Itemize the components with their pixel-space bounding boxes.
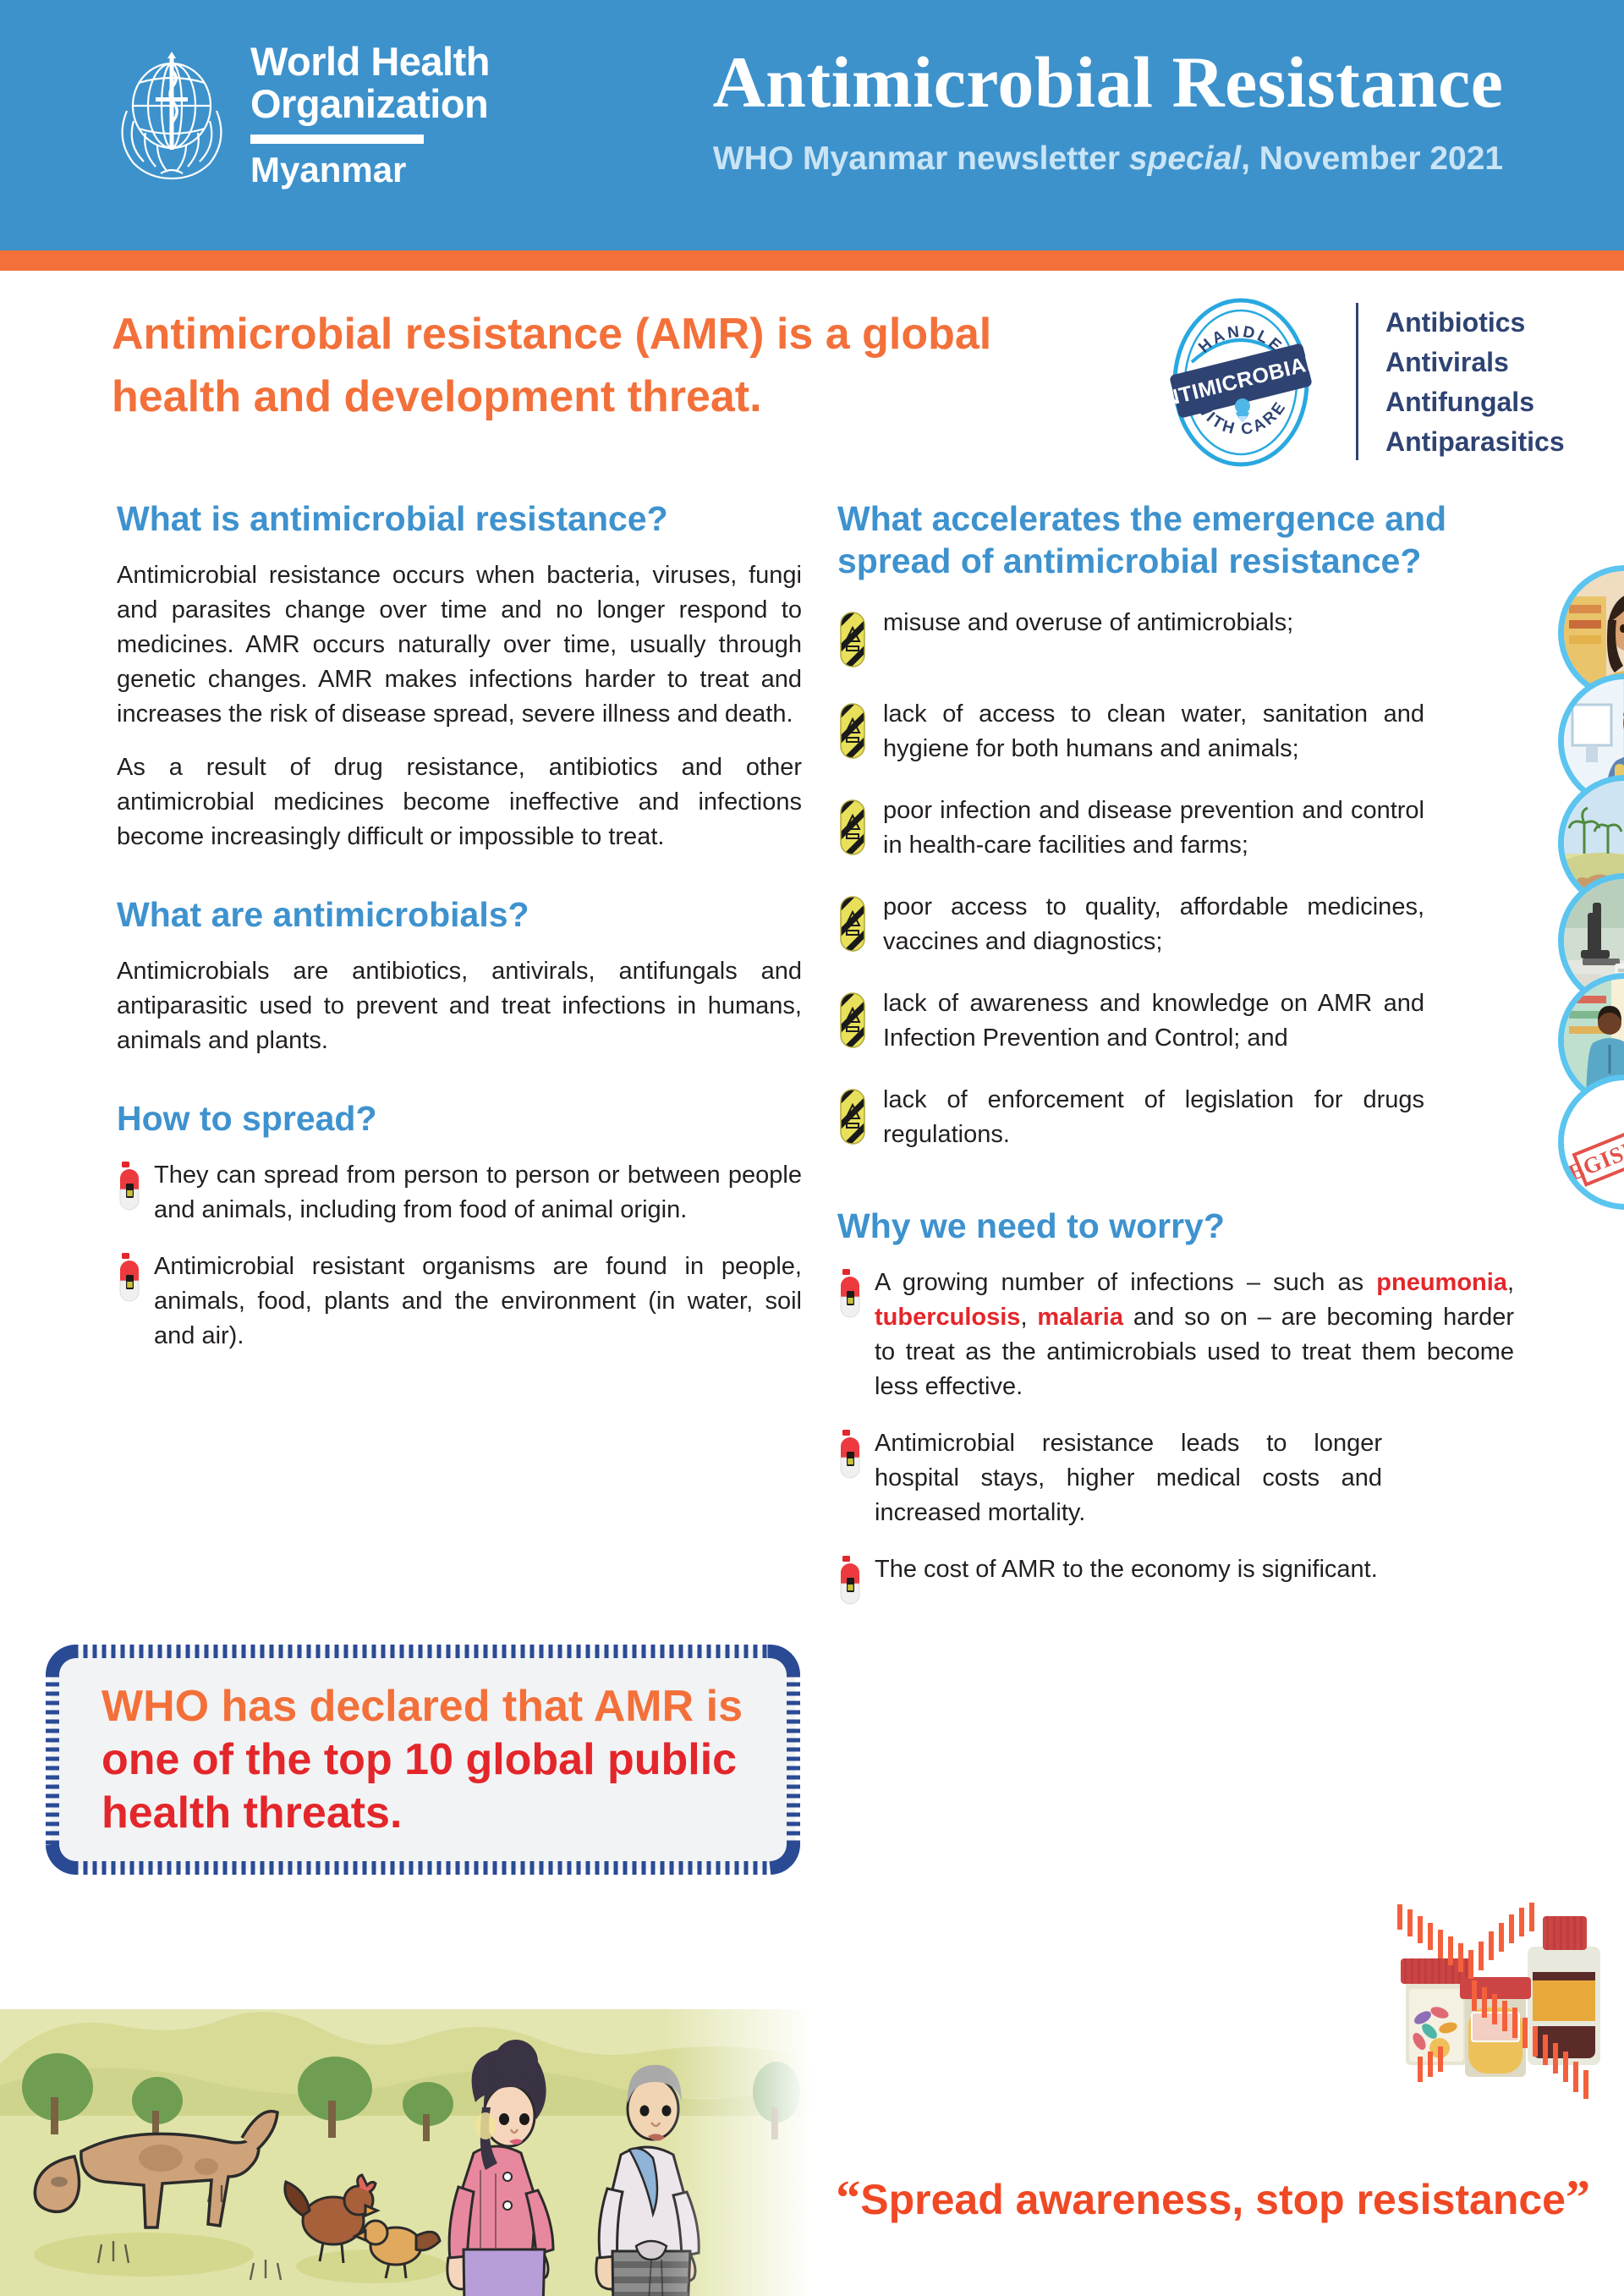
- list-item: Antimicrobial resistance leads to longer…: [837, 1426, 1514, 1530]
- list-item-text: poor infection and disease prevention an…: [883, 794, 1424, 863]
- list-item-text: They can spread from person to person or…: [154, 1158, 802, 1228]
- callout-line-orange: WHO has declared that AMR is: [101, 1682, 743, 1731]
- disease-tuberculosis: tuberculosis: [875, 1304, 1020, 1331]
- list-item: lack of awareness and knowledge on AMR a…: [837, 986, 1514, 1056]
- list-item: Antimicrobial resistant organisms are fo…: [117, 1250, 802, 1354]
- who-org-line2: Organization: [250, 83, 490, 125]
- worry-text-pre: A growing number of infections – such as: [875, 1269, 1376, 1296]
- list-item: They can spread from person to person or…: [117, 1158, 802, 1228]
- spacer: [117, 1058, 802, 1097]
- capsule-pill-icon: [117, 1251, 145, 1310]
- list-item-text: lack of enforcement of legislation for d…: [883, 1083, 1424, 1152]
- who-emblem-icon: [108, 45, 235, 185]
- capsule-pill-icon: [837, 1428, 866, 1487]
- tagline-text: Spread awareness, stop resistance: [860, 2176, 1566, 2223]
- who-country: Myanmar: [250, 151, 490, 189]
- banner-row: Antimicrobial resistance (AMR) is a glob…: [0, 288, 1624, 482]
- subtitle-emphasis: special: [1129, 140, 1241, 177]
- capsule-pill-icon: [837, 1554, 866, 1613]
- close-quote: ”: [1566, 2170, 1590, 2225]
- type-antifungals: Antifungals: [1385, 382, 1565, 422]
- list-item-text: poor access to quality, affordable medic…: [883, 890, 1424, 959]
- masthead: Antimicrobial Resistance WHO Myanmar new…: [609, 41, 1607, 181]
- type-antiparasitics: Antiparasitics: [1385, 422, 1565, 462]
- legislation-stamp-photo: LEGISLATION: [1558, 1074, 1624, 1210]
- capsule-pill-icon: [117, 1160, 145, 1219]
- list-item-text: Antimicrobial resistance leads to longer…: [875, 1426, 1382, 1530]
- page-header: World Health Organization Myanmar Antimi…: [0, 0, 1624, 250]
- orange-divider-bar: [0, 250, 1624, 271]
- callout-line-red: one of the top 10 global public health t…: [101, 1735, 737, 1837]
- spacer: [117, 854, 802, 893]
- who-declaration-callout: WHO has declared that AMR is one of the …: [51, 1650, 795, 1870]
- banner-divider: [1356, 303, 1358, 460]
- disease-malaria: malaria: [1037, 1304, 1123, 1331]
- heading-how-to-spread: How to spread?: [117, 1097, 802, 1140]
- list-item-text: A growing number of infections – such as…: [875, 1266, 1514, 1404]
- medicine-bottles-declining-chart-illustration: [1387, 1899, 1624, 2111]
- list-item-text: lack of access to clean water, sanitatio…: [883, 697, 1424, 766]
- who-org-line1: World Health: [250, 41, 490, 83]
- antimicrobial-types-list: Antibiotics Antivirals Antifungals Antip…: [1385, 303, 1565, 462]
- spread-bullet-list: They can spread from person to person or…: [117, 1158, 802, 1354]
- sep2: ,: [1020, 1304, 1037, 1331]
- paragraph-drug-resistance-result: As a result of drug resistance, antibiot…: [117, 750, 802, 854]
- handle-antimicrobials-with-care-badge-icon: HANDLE WITH CARE ANTIMICROBIALS: [1150, 296, 1332, 470]
- list-item: misuse and overuse of antimicrobials;: [837, 606, 1514, 670]
- paragraph-amr-definition: Antimicrobial resistance occurs when bac…: [117, 558, 802, 732]
- type-antivirals: Antivirals: [1385, 343, 1565, 382]
- list-item: A growing number of infections – such as…: [837, 1266, 1514, 1404]
- who-logo: World Health Organization Myanmar: [108, 41, 490, 189]
- hazard-capsule-icon: [837, 797, 868, 858]
- open-quote: “: [836, 2170, 860, 2225]
- list-item: lack of access to clean water, sanitatio…: [837, 697, 1514, 766]
- list-item: lack of enforcement of legislation for d…: [837, 1083, 1514, 1152]
- heading-what-accelerates: What accelerates the emergence and sprea…: [837, 497, 1514, 582]
- who-rule: [250, 135, 424, 144]
- hazard-capsule-icon: [837, 700, 868, 761]
- disease-pneumonia: pneumonia: [1376, 1269, 1507, 1296]
- list-item: The cost of AMR to the economy is signif…: [837, 1552, 1514, 1613]
- banner-headline: Antimicrobial resistance (AMR) is a glob…: [112, 303, 1127, 428]
- subtitle-post: , November 2021: [1241, 140, 1503, 177]
- tagline: “Spread awareness, stop resistance”: [812, 2172, 1590, 2225]
- sep1: ,: [1507, 1269, 1514, 1296]
- newsletter-subtitle: WHO Myanmar newsletter special, November…: [609, 137, 1607, 181]
- capsule-pill-icon: [837, 1267, 866, 1327]
- list-item: poor access to quality, affordable medic…: [837, 890, 1514, 959]
- left-column: What is antimicrobial resistance? Antimi…: [117, 497, 802, 1376]
- list-item-text: The cost of AMR to the economy is signif…: [875, 1552, 1382, 1587]
- spacer: [837, 1179, 1514, 1205]
- list-item-text: Antimicrobial resistant organisms are fo…: [154, 1250, 802, 1354]
- type-antibiotics: Antibiotics: [1385, 303, 1565, 343]
- hazard-capsule-icon: [837, 1086, 868, 1147]
- hazard-capsule-icon: [837, 990, 868, 1051]
- hazard-capsule-icon: [837, 893, 868, 954]
- accelerators-bullet-list: misuse and overuse of antimicrobials;: [837, 606, 1514, 1152]
- list-item-text: misuse and overuse of antimicrobials;: [883, 606, 1424, 640]
- worry-bullet-list: A growing number of infections – such as…: [837, 1266, 1514, 1613]
- paragraph-antimicrobials-definition: Antimicrobials are antibiotics, antivira…: [117, 954, 802, 1058]
- heading-why-worry: Why we need to worry?: [837, 1205, 1514, 1247]
- callout-text: WHO has declared that AMR is one of the …: [101, 1680, 761, 1840]
- hazard-capsule-icon: [837, 609, 868, 670]
- page-title: Antimicrobial Resistance: [609, 41, 1607, 124]
- list-item: poor infection and disease prevention an…: [837, 794, 1514, 863]
- right-column: What accelerates the emergence and sprea…: [837, 497, 1514, 1635]
- list-item-text: lack of awareness and knowledge on AMR a…: [883, 986, 1424, 1056]
- subtitle-pre: WHO Myanmar newsletter: [713, 140, 1129, 177]
- heading-what-is-amr: What is antimicrobial resistance?: [117, 497, 802, 540]
- myanmar-village-couple-goat-chickens-illustration: [0, 1908, 812, 2296]
- heading-what-are-antimicrobials: What are antimicrobials?: [117, 893, 802, 936]
